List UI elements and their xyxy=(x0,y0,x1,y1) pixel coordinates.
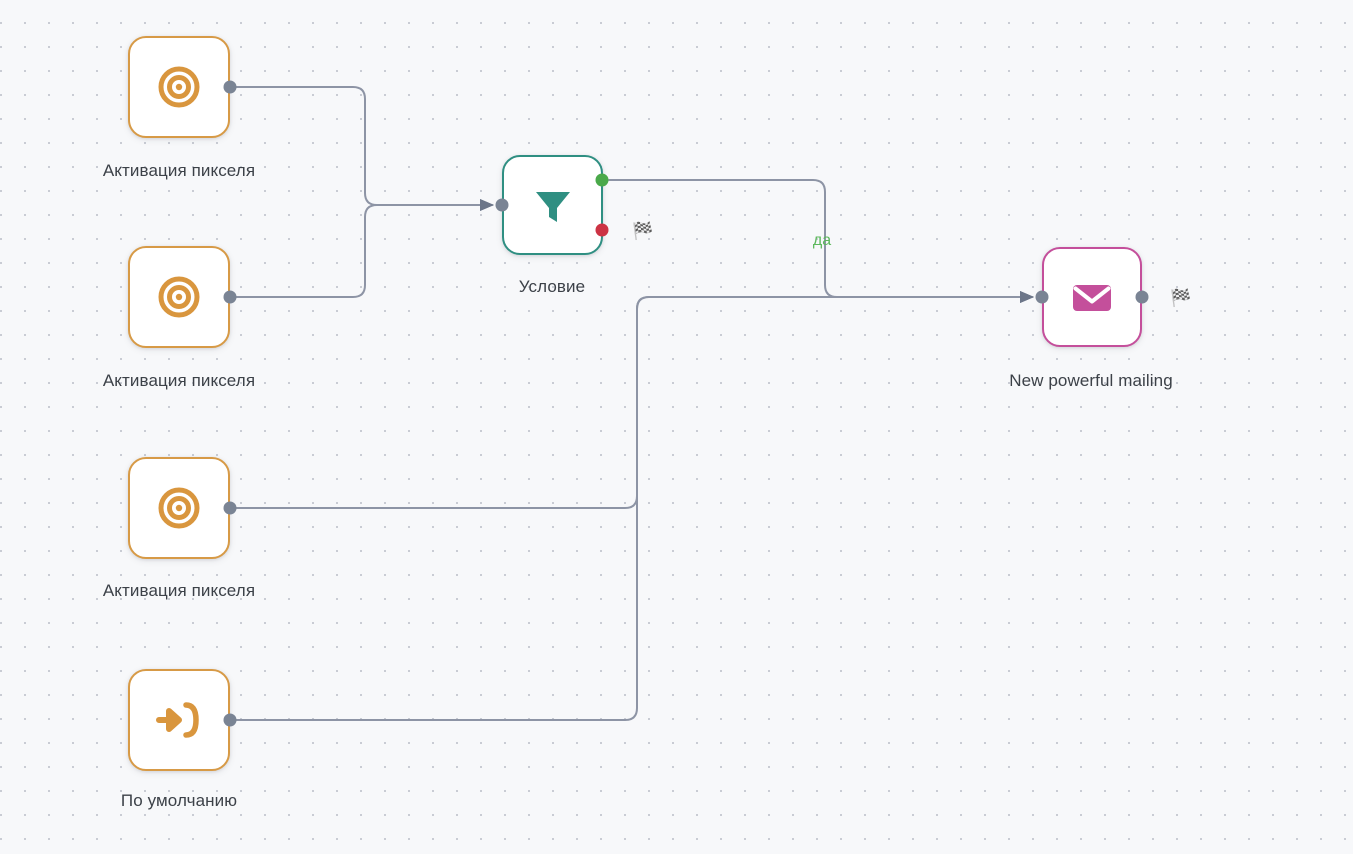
pixel-3-to-mailing[interactable] xyxy=(236,297,1032,508)
node-label-pixel-1: Активация пикселя xyxy=(103,161,255,181)
port-condition-output-no[interactable] xyxy=(596,224,609,237)
port-pixel-3-output[interactable] xyxy=(224,502,237,515)
yes-branch-label: да xyxy=(813,232,831,250)
default-to-mailing[interactable] xyxy=(236,297,1032,720)
envelope-icon xyxy=(1068,273,1116,321)
checkered-flag-icon: 🏁 xyxy=(632,223,653,240)
node-label-pixel-3: Активация пикселя xyxy=(103,581,255,601)
port-condition-input[interactable] xyxy=(496,199,509,212)
target-icon xyxy=(155,273,203,321)
target-icon xyxy=(155,63,203,111)
pixel-2-to-condition[interactable] xyxy=(236,205,492,297)
node-pixel-1[interactable] xyxy=(128,36,230,138)
node-label-default: По умолчанию xyxy=(121,791,237,811)
funnel-icon xyxy=(529,181,577,229)
workflow-canvas[interactable]: Активация пикселяАктивация пикселяАктива… xyxy=(0,0,1353,854)
target-icon xyxy=(155,484,203,532)
node-mailing[interactable] xyxy=(1042,247,1142,347)
port-default-output[interactable] xyxy=(224,714,237,727)
node-label-mailing: New powerful mailing xyxy=(1009,371,1173,391)
port-pixel-1-output[interactable] xyxy=(224,81,237,94)
port-mailing-output[interactable] xyxy=(1136,291,1149,304)
node-label-pixel-2: Активация пикселя xyxy=(103,371,255,391)
node-pixel-2[interactable] xyxy=(128,246,230,348)
port-mailing-input[interactable] xyxy=(1036,291,1049,304)
node-condition[interactable] xyxy=(502,155,603,255)
node-pixel-3[interactable] xyxy=(128,457,230,559)
port-condition-output-yes[interactable] xyxy=(596,174,609,187)
node-label-condition: Условие xyxy=(519,277,585,297)
port-pixel-2-output[interactable] xyxy=(224,291,237,304)
sign-in-icon xyxy=(155,696,203,744)
pixel-1-to-condition[interactable] xyxy=(236,87,492,205)
checkered-flag-icon: 🏁 xyxy=(1170,290,1191,307)
node-default[interactable] xyxy=(128,669,230,771)
